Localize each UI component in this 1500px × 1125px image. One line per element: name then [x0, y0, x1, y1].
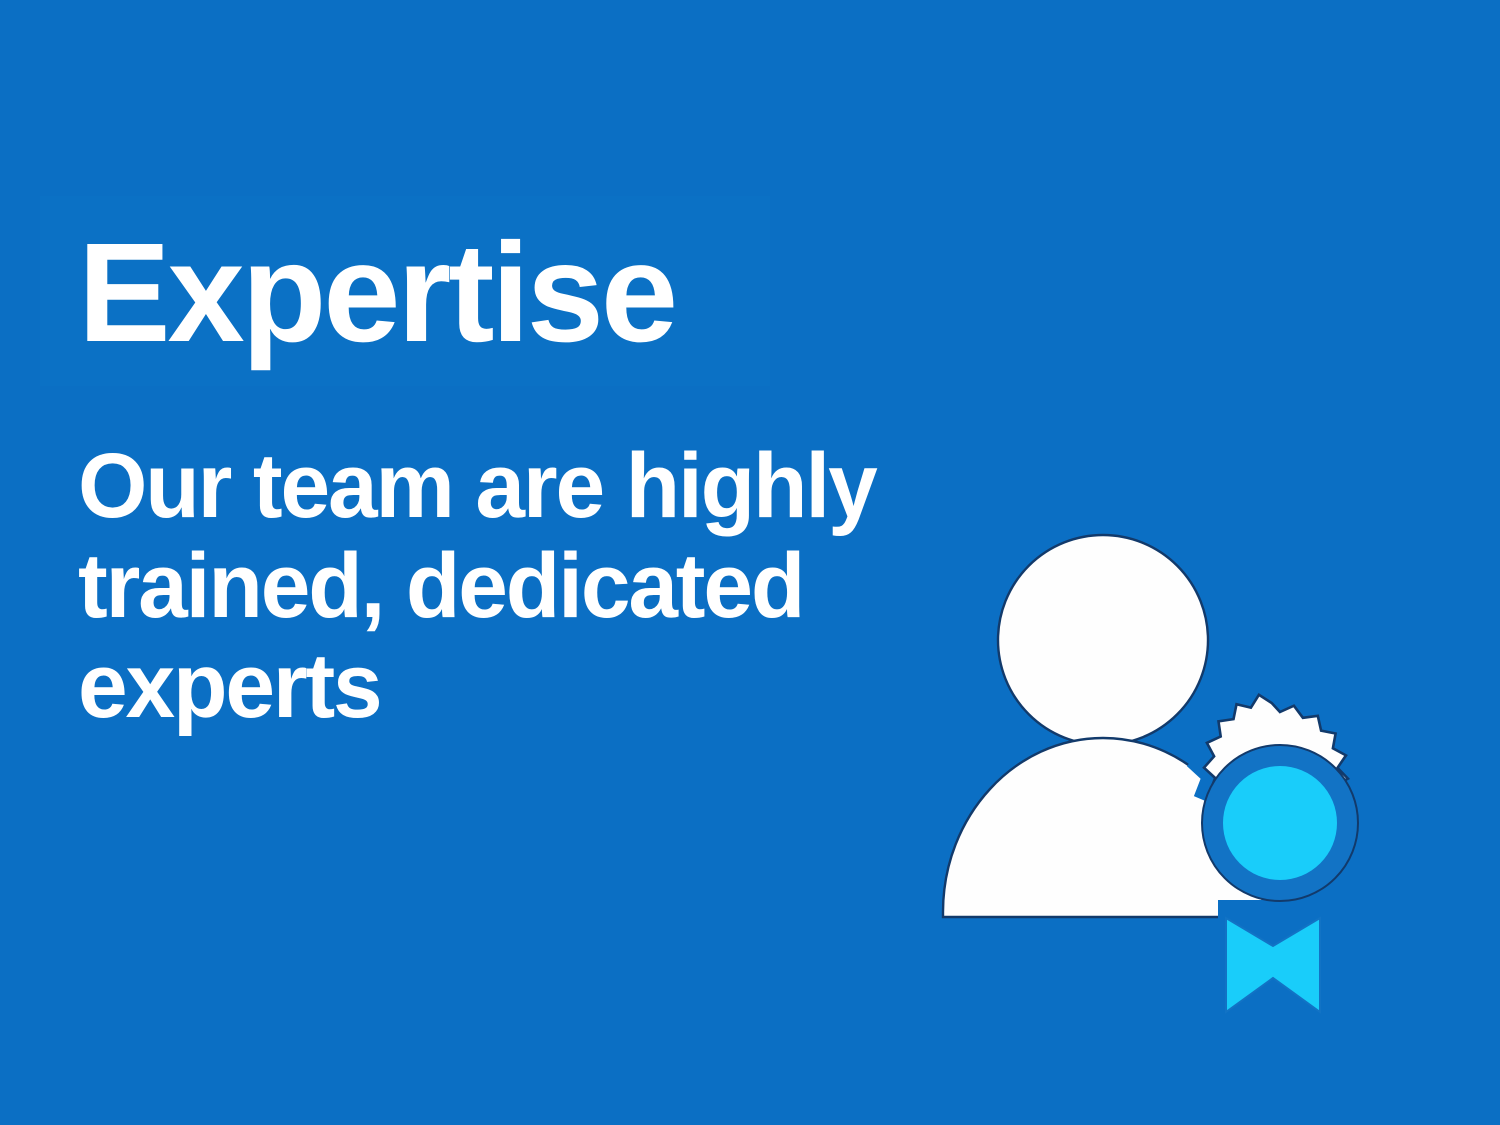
award-rosette-badge: [1202, 695, 1358, 901]
subtitle-line-2: trained, dedicated: [78, 536, 912, 636]
subtitle: Our team are highly trained, dedicated e…: [78, 436, 912, 736]
badge-center: [1223, 766, 1337, 880]
subtitle-line-1: Our team are highly: [78, 436, 912, 536]
certified-expert-icon: [900, 500, 1440, 1060]
subtitle-line-3: experts: [78, 636, 912, 736]
person-head: [998, 535, 1208, 745]
expertise-slide: Expertise Our team are highly trained, d…: [0, 0, 1500, 1125]
ribbon-tails: [1226, 918, 1320, 1012]
page-title: Expertise: [78, 222, 675, 363]
